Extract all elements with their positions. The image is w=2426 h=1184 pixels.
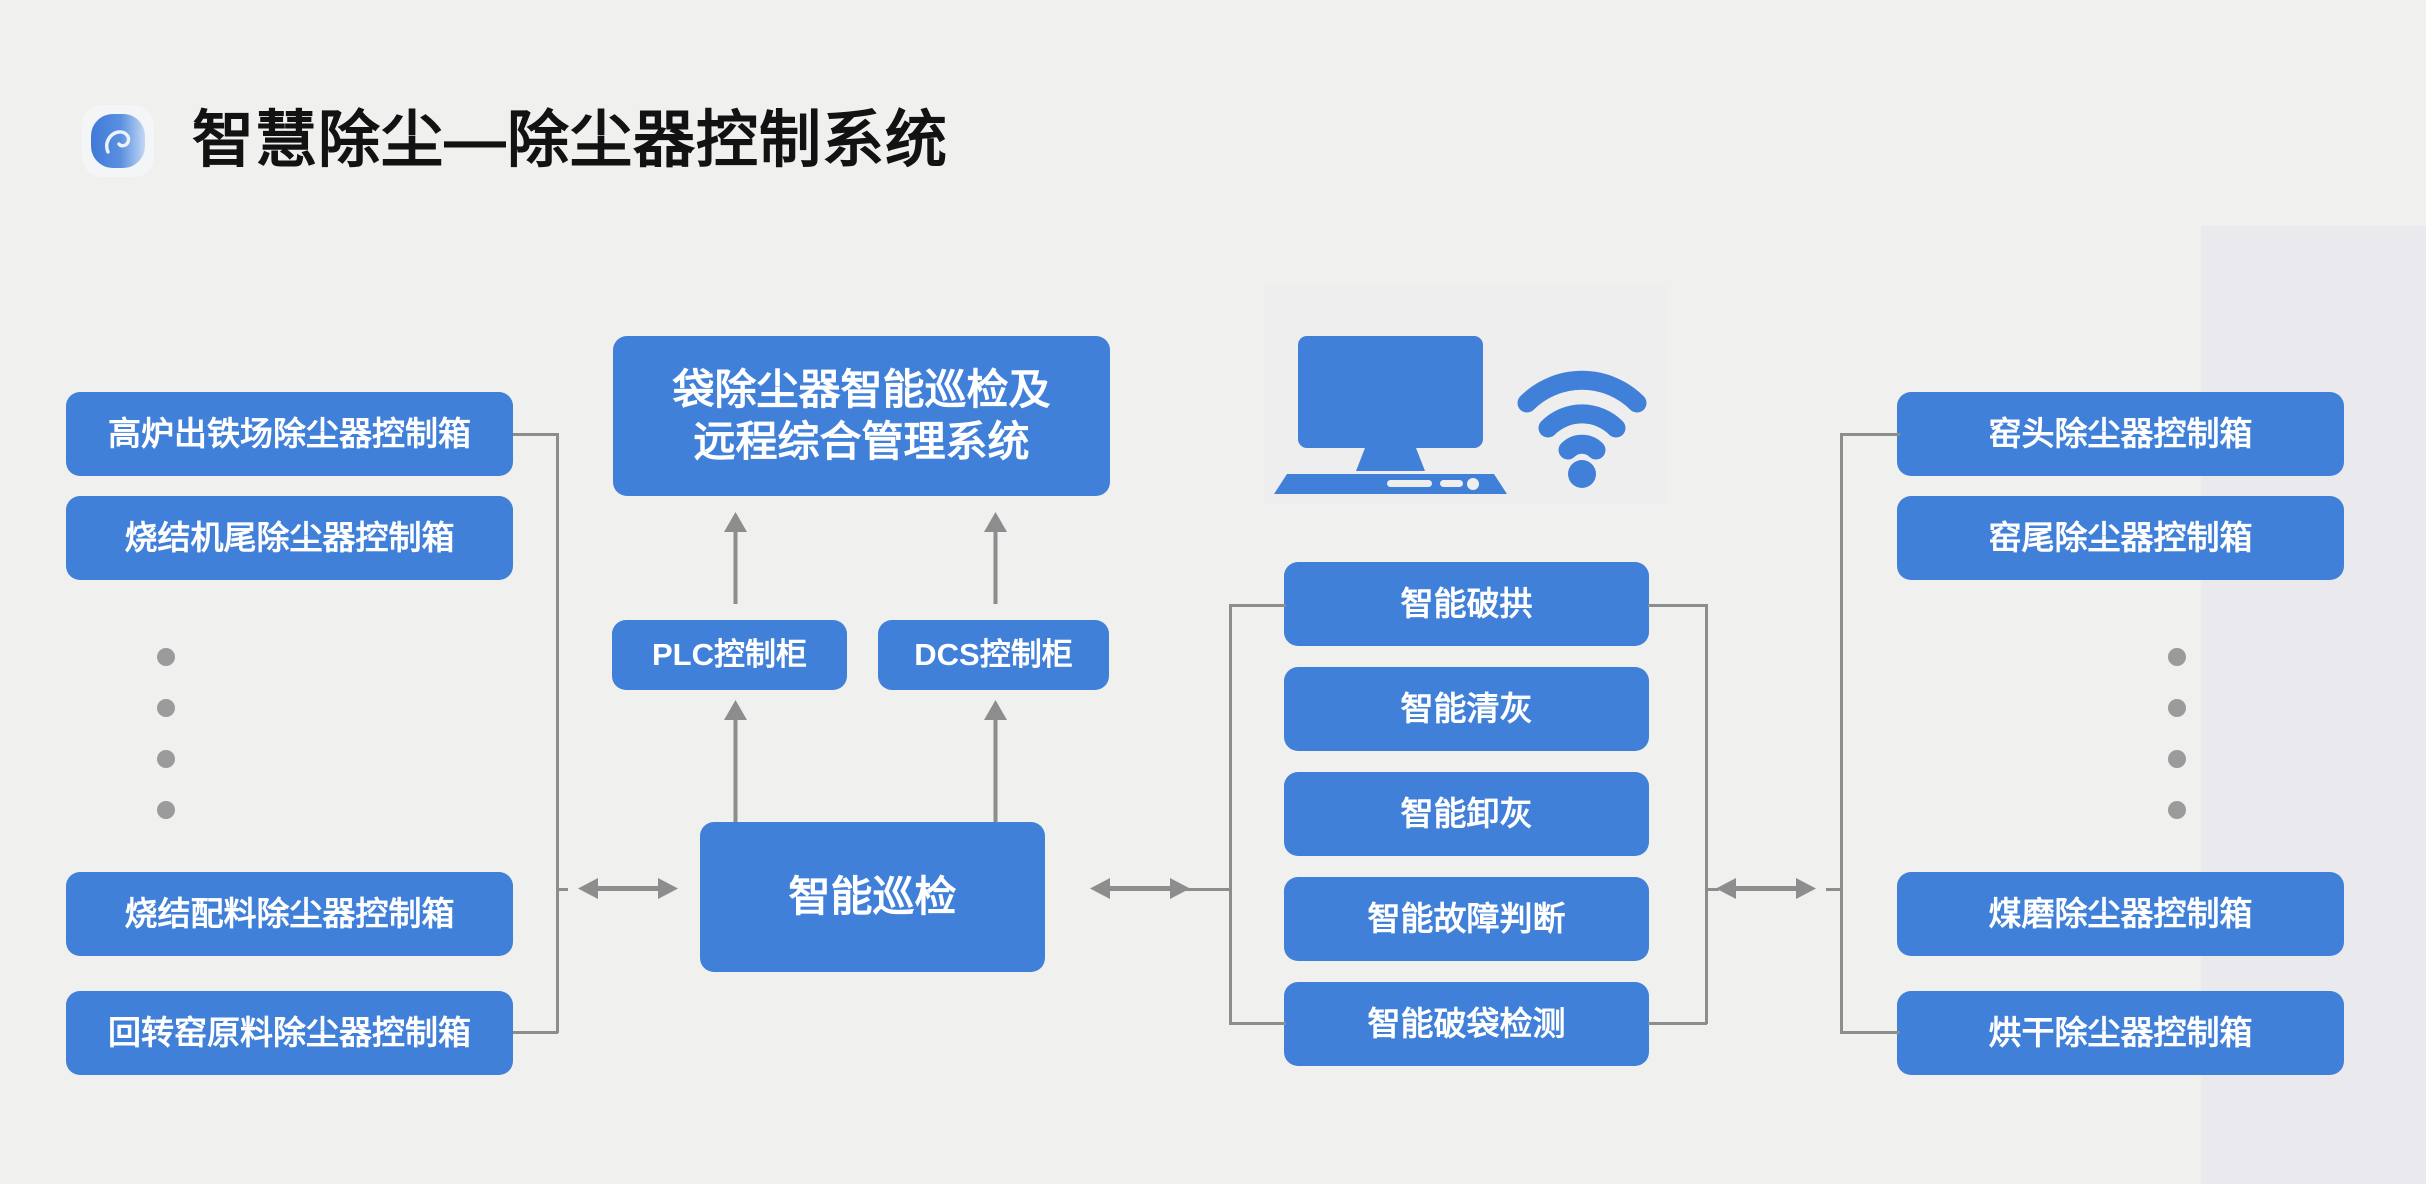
left-connector-bottom — [513, 1031, 558, 1034]
arrow-left-right-icon-function-right — [1716, 872, 1816, 906]
device-icon-group — [1265, 286, 1668, 504]
dot — [2168, 648, 2186, 666]
arrow-left-right-icon-right-hub — [1090, 872, 1190, 906]
left-box-3[interactable]: 烧结配料除尘器控制箱 — [66, 872, 513, 956]
function-left-bracket-stub — [1180, 888, 1231, 891]
dcs-control-cabinet-box[interactable]: DCS控制柜 — [878, 620, 1109, 690]
function-left-bracket-top — [1229, 604, 1286, 607]
intelligent-inspection-hub-box[interactable]: 智能巡检 — [700, 822, 1045, 972]
left-connector-to-hub — [556, 888, 568, 891]
left-box-4[interactable]: 回转窑原料除尘器控制箱 — [66, 991, 513, 1075]
right-ellipsis-dots — [2168, 648, 2186, 819]
diagram-canvas: 智慧除尘—除尘器控制系统 高炉出铁场除尘器控制箱 烧结机尾除尘器控制箱 烧结配料… — [0, 0, 2426, 1184]
arrow-up-icon-hub-to-dcs — [982, 700, 1010, 830]
page-title: 智慧除尘—除尘器控制系统 — [192, 110, 948, 172]
system-box-line-2: 远程综合管理系统 — [693, 416, 1029, 469]
function-right-bracket-vertical — [1705, 604, 1708, 1024]
function-right-bracket-bottom — [1648, 1022, 1707, 1025]
function-box-3[interactable]: 智能卸灰 — [1284, 772, 1649, 856]
left-connector-vertical — [556, 433, 559, 1033]
function-box-1[interactable]: 智能破拱 — [1284, 562, 1649, 646]
right-box-3[interactable]: 煤磨除尘器控制箱 — [1897, 872, 2344, 956]
function-left-bracket-bottom — [1229, 1022, 1286, 1025]
right-connector-to-arrow — [1826, 888, 1842, 891]
system-box[interactable]: 袋除尘器智能巡检及 远程综合管理系统 — [613, 336, 1110, 496]
function-box-4[interactable]: 智能故障判断 — [1284, 877, 1649, 961]
left-box-1[interactable]: 高炉出铁场除尘器控制箱 — [66, 392, 513, 476]
arrow-up-icon-plc-to-system — [722, 512, 750, 604]
arrow-left-right-icon-left-hub — [578, 872, 678, 906]
dot — [2168, 699, 2186, 717]
left-ellipsis-dots — [157, 648, 175, 819]
system-box-line-1: 袋除尘器智能巡检及 — [672, 364, 1050, 417]
arrow-up-icon-dcs-to-system — [982, 512, 1010, 604]
function-right-bracket-top — [1648, 604, 1707, 607]
left-box-2[interactable]: 烧结机尾除尘器控制箱 — [66, 496, 513, 580]
right-box-2[interactable]: 窑尾除尘器控制箱 — [1897, 496, 2344, 580]
dot — [2168, 801, 2186, 819]
dot — [157, 750, 175, 768]
function-box-5[interactable]: 智能破袋检测 — [1284, 982, 1649, 1066]
function-box-2[interactable]: 智能清灰 — [1284, 667, 1649, 751]
right-box-4[interactable]: 烘干除尘器控制箱 — [1897, 991, 2344, 1075]
plc-control-cabinet-box[interactable]: PLC控制柜 — [612, 620, 847, 690]
dot — [157, 648, 175, 666]
dot — [157, 699, 175, 717]
function-left-bracket-vertical — [1229, 604, 1232, 1024]
left-connector-top — [513, 433, 558, 436]
arrow-up-icon-hub-to-plc — [722, 700, 750, 830]
right-connector-top — [1840, 433, 1900, 436]
page-header: 智慧除尘—除尘器控制系统 — [82, 105, 948, 177]
right-connector-vertical — [1840, 433, 1843, 1033]
swirl-logo-icon — [82, 105, 154, 177]
right-connector-bottom — [1840, 1031, 1900, 1034]
dot — [2168, 750, 2186, 768]
right-box-1[interactable]: 窑头除尘器控制箱 — [1897, 392, 2344, 476]
dot — [157, 801, 175, 819]
